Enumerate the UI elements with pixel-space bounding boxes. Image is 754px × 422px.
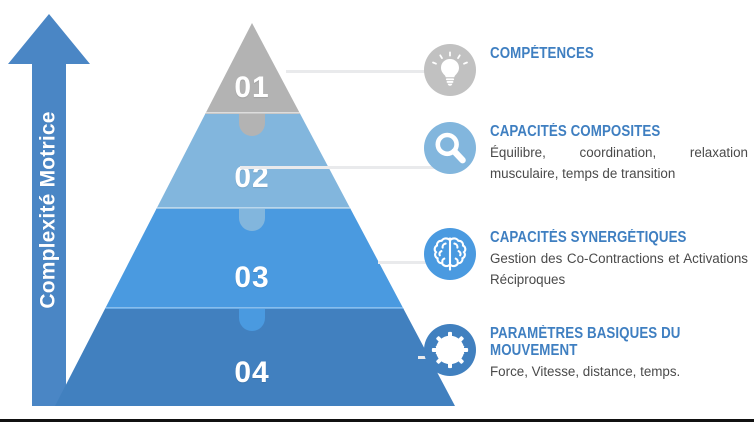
pyramid-chart: 01 02 03 04: [55, 16, 455, 412]
legend-item-capacites-composites[interactable]: CAPACITÉS COMPOSITES Équilibre, coordina…: [424, 122, 754, 184]
lightbulb-badge: [424, 44, 476, 96]
legend-body-capacites-composites: Équilibre, coordination, relaxation musc…: [490, 142, 748, 184]
brain-icon: [429, 233, 471, 275]
connector-line-01: [286, 70, 436, 73]
legend-body-parametres-basiques: Force, Vitesse, distance, temps.: [490, 361, 748, 382]
legend-text-capacites-composites: CAPACITÉS COMPOSITES Équilibre, coordina…: [490, 122, 752, 184]
magnifier-badge: [424, 122, 476, 174]
legend-item-capacites-synergetiques[interactable]: CAPACITÉS SYNERGÉTIQUES Gestion des Co-C…: [424, 228, 754, 290]
legend-list: COMPÉTENCES CAPACITÉS COMPOSITES Équilib…: [424, 0, 754, 422]
legend-body-capacites-synergetiques: Gestion des Co-Contractions et Activatio…: [490, 248, 748, 290]
legend-text-capacites-synergetiques: CAPACITÉS SYNERGÉTIQUES Gestion des Co-C…: [490, 228, 752, 290]
legend-item-competences[interactable]: COMPÉTENCES: [424, 44, 754, 96]
legend-title-capacites-composites: CAPACITÉS COMPOSITES: [490, 123, 751, 140]
pyramid-tier-04-number: 04: [217, 356, 287, 390]
gear-badge: [424, 324, 476, 376]
gear-icon: [430, 330, 470, 370]
lightbulb-icon: [430, 50, 470, 90]
legend-title-parametres-basiques: PARAMÈTRES BASIQUES DU MOUVEMENT: [490, 325, 751, 359]
legend-item-parametres-basiques[interactable]: PARAMÈTRES BASIQUES DU MOUVEMENT Force, …: [424, 324, 754, 382]
infographic-canvas: Complexité Motrice: [0, 0, 754, 422]
legend-text-parametres-basiques: PARAMÈTRES BASIQUES DU MOUVEMENT Force, …: [490, 324, 752, 382]
pyramid-tier-03-number: 03: [217, 261, 287, 295]
connector-line-02: [240, 166, 436, 169]
brain-badge: [424, 228, 476, 280]
magnifier-icon: [430, 128, 470, 168]
pyramid-tier-01-number: 01: [217, 71, 287, 105]
legend-title-capacites-synergetiques: CAPACITÉS SYNERGÉTIQUES: [490, 229, 751, 246]
legend-title-competences: COMPÉTENCES: [490, 45, 751, 62]
legend-text-competences: COMPÉTENCES: [490, 44, 752, 96]
